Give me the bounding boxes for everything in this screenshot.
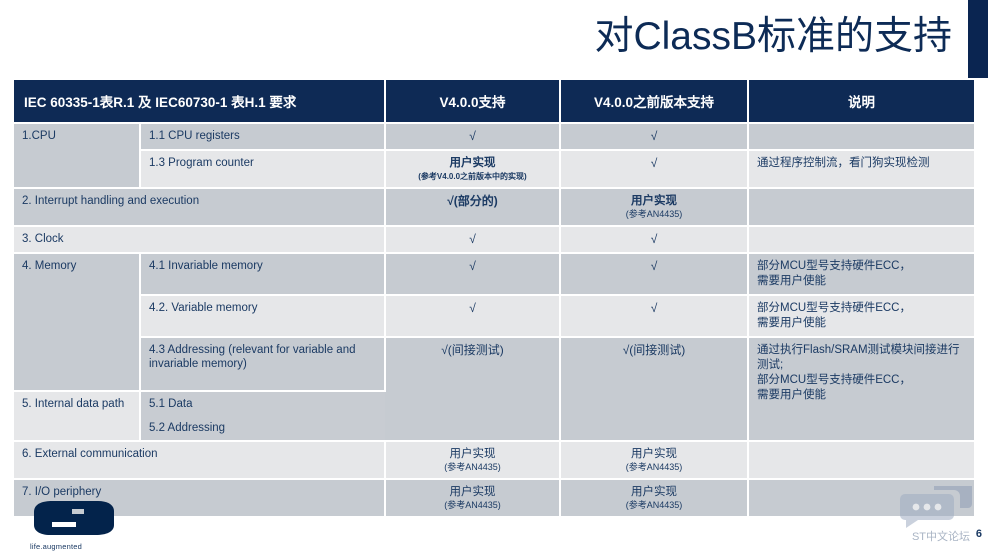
speech-bubble-icon xyxy=(890,484,974,530)
check-mark-icon: √ xyxy=(651,301,658,315)
cell-description: 部分MCU型号支持硬件ECC， 需要用户使能 xyxy=(748,253,974,295)
cell-prev: √ xyxy=(560,150,748,188)
table-row: 2. Interrupt handling and execution √(部分… xyxy=(14,188,974,226)
cell-description xyxy=(748,226,974,253)
cell-v400: √(间接测试) xyxy=(385,337,560,441)
cell-item: 4.3 Addressing (relevant for variable an… xyxy=(140,337,385,391)
cell-item: 1.3 Program counter xyxy=(140,150,385,188)
column-header-prev: V4.0.0之前版本支持 xyxy=(560,80,748,123)
title-accent-bar xyxy=(968,0,988,78)
column-header-description: 说明 xyxy=(748,80,974,123)
check-mark-icon: √ xyxy=(469,259,476,273)
table-row: 3. Clock √ √ xyxy=(14,226,974,253)
cell-description xyxy=(748,441,974,479)
page-title: 对ClassB标准的支持 xyxy=(594,8,952,66)
st-logo-icon xyxy=(28,498,120,548)
check-mark-icon: √ xyxy=(469,129,476,143)
check-mark-icon: √ xyxy=(651,129,658,143)
cell-v400: √ xyxy=(385,123,560,150)
cell-description xyxy=(748,123,974,150)
cell-v400: √ xyxy=(385,253,560,295)
cell-v400: 用户实现 (参考AN4435) xyxy=(385,441,560,479)
page-number: 6 xyxy=(976,528,982,540)
cell-item: 4.2. Variable memory xyxy=(140,295,385,337)
table-row: 1.3 Program counter 用户实现 (参考V4.0.0之前版本中的… xyxy=(14,150,974,188)
cell-prev: √ xyxy=(560,295,748,337)
cell-prev: √ xyxy=(560,253,748,295)
cell-v400: √ xyxy=(385,295,560,337)
cell-item: 5.2 Addressing xyxy=(140,416,385,441)
slide: 对ClassB标准的支持 IEC 60335-1表R.1 及 IEC60730-… xyxy=(0,0,988,554)
slide-footer: life.augmented ST中文论坛 6 xyxy=(0,492,988,554)
cell-prev-note: (参考AN4435) xyxy=(569,209,739,220)
cell-item: 5.1 Data xyxy=(140,391,385,416)
cell-description xyxy=(748,188,974,226)
check-mark-icon: √ xyxy=(469,301,476,315)
cell-prev: √ xyxy=(560,226,748,253)
cell-item: 4.1 Invariable memory xyxy=(140,253,385,295)
cell-group: 6. External communication xyxy=(14,441,385,479)
cell-description: 部分MCU型号支持硬件ECC， 需要用户使能 xyxy=(748,295,974,337)
cell-item: 1.1 CPU registers xyxy=(140,123,385,150)
cell-description: 通过程序控制流，看门狗实现检测 xyxy=(748,150,974,188)
table-row: 4.3 Addressing (relevant for variable an… xyxy=(14,337,974,391)
column-header-v400: V4.0.0支持 xyxy=(385,80,560,123)
table-header-row: IEC 60335-1表R.1 及 IEC60730-1 表H.1 要求 V4.… xyxy=(14,80,974,123)
cell-prev: 用户实现 (参考AN4435) xyxy=(560,188,748,226)
cell-group: 3. Clock xyxy=(14,226,385,253)
table-row: 6. External communication 用户实现 (参考AN4435… xyxy=(14,441,974,479)
table-row: 4. Memory 4.1 Invariable memory √ √ 部分MC… xyxy=(14,253,974,295)
cell-prev: 用户实现 (参考AN4435) xyxy=(560,441,748,479)
cell-group: 5. Internal data path xyxy=(14,391,140,441)
forum-watermark-text: ST中文论坛 xyxy=(912,528,970,544)
cell-v400-note: (参考AN4435) xyxy=(394,462,551,473)
table-row: 1.CPU 1.1 CPU registers √ √ xyxy=(14,123,974,150)
cell-v400: 用户实现 (参考V4.0.0之前版本中的实现) xyxy=(385,150,560,188)
table-row: 4.2. Variable memory √ √ 部分MCU型号支持硬件ECC，… xyxy=(14,295,974,337)
check-mark-icon: √ xyxy=(651,232,658,246)
classb-support-table-wrapper: IEC 60335-1表R.1 及 IEC60730-1 表H.1 要求 V4.… xyxy=(14,80,974,518)
check-mark-icon: √ xyxy=(651,156,658,170)
cell-v400: √ xyxy=(385,226,560,253)
column-header-requirement: IEC 60335-1表R.1 及 IEC60730-1 表H.1 要求 xyxy=(14,80,385,123)
check-mark-icon: √ xyxy=(651,259,658,273)
cell-v400-note: (参考V4.0.0之前版本中的实现) xyxy=(394,171,551,182)
classb-support-table: IEC 60335-1表R.1 及 IEC60730-1 表H.1 要求 V4.… xyxy=(14,80,974,518)
cell-prev: √ xyxy=(560,123,748,150)
cell-group: 1.CPU xyxy=(14,123,140,188)
st-logo-tagline: life.augmented xyxy=(30,542,82,551)
cell-prev: √(间接测试) xyxy=(560,337,748,441)
check-mark-icon: √ xyxy=(469,232,476,246)
cell-prev-note: (参考AN4435) xyxy=(569,462,739,473)
cell-group: 2. Interrupt handling and execution xyxy=(14,188,385,226)
forum-watermark: ST中文论坛 xyxy=(882,484,978,546)
cell-description: 通过执行Flash/SRAM测试模块间接进行测试; 部分MCU型号支持硬件ECC… xyxy=(748,337,974,441)
cell-v400: √(部分的) xyxy=(385,188,560,226)
title-bar: 对ClassB标准的支持 xyxy=(0,0,988,78)
cell-group: 4. Memory xyxy=(14,253,140,391)
